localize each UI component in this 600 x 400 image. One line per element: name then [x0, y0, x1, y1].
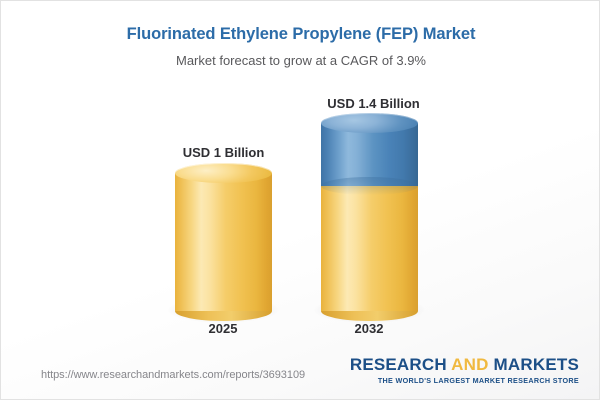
- cylinder-side: [175, 173, 272, 311]
- research-and-markets-logo: RESEARCH AND MARKETS THE WORLD'S LARGEST…: [350, 356, 579, 385]
- source-url[interactable]: https://www.researchandmarkets.com/repor…: [41, 369, 305, 381]
- data-label-2032: USD 1.4 Billion: [291, 96, 456, 111]
- bar-2025: [175, 173, 272, 311]
- chart-plot-area: USD 1 Billion 2025 USD 1.4 Billion: [1, 1, 600, 341]
- logo-markets-text: MARKETS: [494, 355, 579, 374]
- cylinder-top-ellipse: [175, 163, 272, 183]
- logo-tagline: THE WORLD'S LARGEST MARKET RESEARCH STOR…: [350, 376, 579, 385]
- logo-wordmark: RESEARCH AND MARKETS: [350, 356, 579, 374]
- logo-research-text: RESEARCH: [350, 355, 447, 374]
- category-label-2032: 2032: [319, 321, 419, 336]
- bar-segment-2032-growth: [321, 123, 418, 186]
- segment-seam: [321, 177, 418, 195]
- data-label-2025: USD 1 Billion: [146, 145, 301, 160]
- bar-segment-2025-base: [175, 173, 272, 311]
- footer: https://www.researchandmarkets.com/repor…: [1, 341, 600, 399]
- logo-and-text: AND: [451, 355, 488, 374]
- chart-card: Fluorinated Ethylene Propylene (FEP) Mar…: [0, 0, 600, 400]
- bar-2032: [321, 123, 418, 311]
- cylinder-top-ellipse: [321, 113, 418, 133]
- category-label-2025: 2025: [173, 321, 273, 336]
